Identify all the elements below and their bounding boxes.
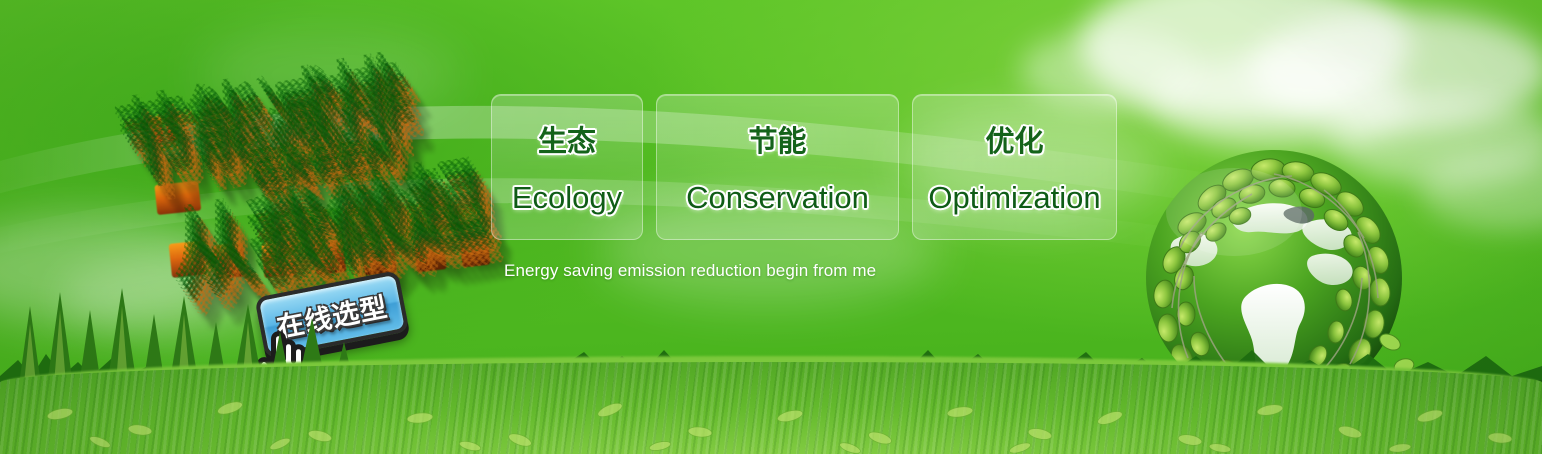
feature-card-title-cn: 节能: [748, 118, 806, 160]
feature-card-title-en: Optimization: [928, 180, 1100, 216]
cloud-icon: [1250, 10, 1542, 130]
feature-card-title-cn: 生态: [538, 118, 596, 160]
feature-card-list: 生态 Ecology 节能 Conservation 优化 Optimizati…: [491, 94, 1117, 240]
feature-card-conservation[interactable]: 节能 Conservation: [656, 94, 899, 240]
headline-3d-title: 节能减排 GREEN 从我做起: [97, 21, 499, 289]
banner-subtitle: Energy saving emission reduction begin f…: [504, 261, 876, 281]
feature-card-optimization[interactable]: 优化 Optimization: [912, 94, 1117, 240]
feature-card-title-cn: 优化: [985, 118, 1043, 160]
eco-promo-banner: 节能减排 GREEN 从我做起 在线选型 生态 Ecology 节能 Conse…: [0, 0, 1542, 454]
feature-card-title-en: Ecology: [512, 180, 622, 216]
feature-card-ecology[interactable]: 生态 Ecology: [491, 94, 643, 240]
cloud-icon: [1420, 150, 1542, 230]
feature-card-title-en: Conservation: [686, 180, 869, 216]
cloud-icon: [1080, 0, 1410, 120]
fallen-leaves-icon: [0, 374, 1542, 454]
